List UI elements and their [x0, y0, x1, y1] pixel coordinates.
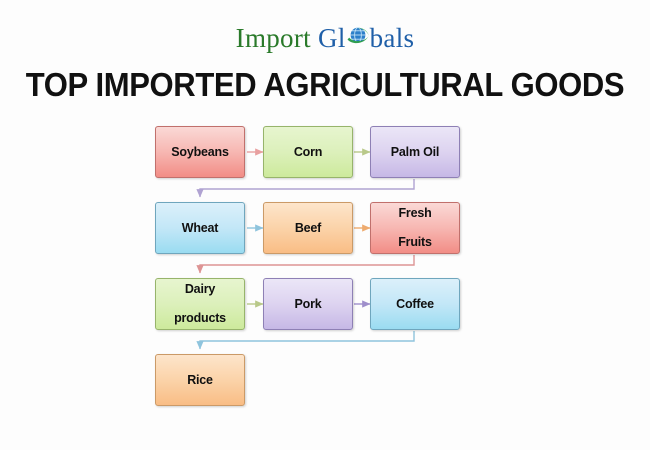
node-label-line1: Fresh — [395, 206, 435, 220]
node-label: Wheat — [179, 221, 222, 235]
node-fresh-fruits[interactable]: FreshFruits — [370, 202, 460, 254]
node-wheat[interactable]: Wheat — [155, 202, 245, 254]
node-label: Rice — [184, 373, 216, 387]
node-label: FreshFruits — [392, 206, 438, 249]
node-label: Corn — [291, 145, 325, 159]
node-soybeans[interactable]: Soybeans — [155, 126, 245, 178]
node-label: Beef — [292, 221, 324, 235]
node-label-line2: products — [171, 311, 229, 325]
node-palm-oil[interactable]: Palm Oil — [370, 126, 460, 178]
flowchart: Soybeans Corn Palm Oil Wheat Beef FreshF… — [0, 0, 650, 450]
node-label: Soybeans — [168, 145, 231, 159]
edge-palmoil-wheat — [200, 179, 414, 197]
node-label: Dairyproducts — [168, 282, 232, 325]
node-label-line2: Fruits — [395, 235, 435, 249]
node-label-line1: Dairy — [171, 282, 229, 296]
node-label: Palm Oil — [388, 145, 442, 159]
node-coffee[interactable]: Coffee — [370, 278, 460, 330]
node-rice[interactable]: Rice — [155, 354, 245, 406]
edge-freshfruits-dairy — [200, 255, 414, 273]
node-label: Pork — [292, 297, 325, 311]
node-corn[interactable]: Corn — [263, 126, 353, 178]
node-label: Coffee — [393, 297, 437, 311]
edge-coffee-rice — [200, 331, 414, 349]
node-pork[interactable]: Pork — [263, 278, 353, 330]
node-beef[interactable]: Beef — [263, 202, 353, 254]
node-dairy-products[interactable]: Dairyproducts — [155, 278, 245, 330]
